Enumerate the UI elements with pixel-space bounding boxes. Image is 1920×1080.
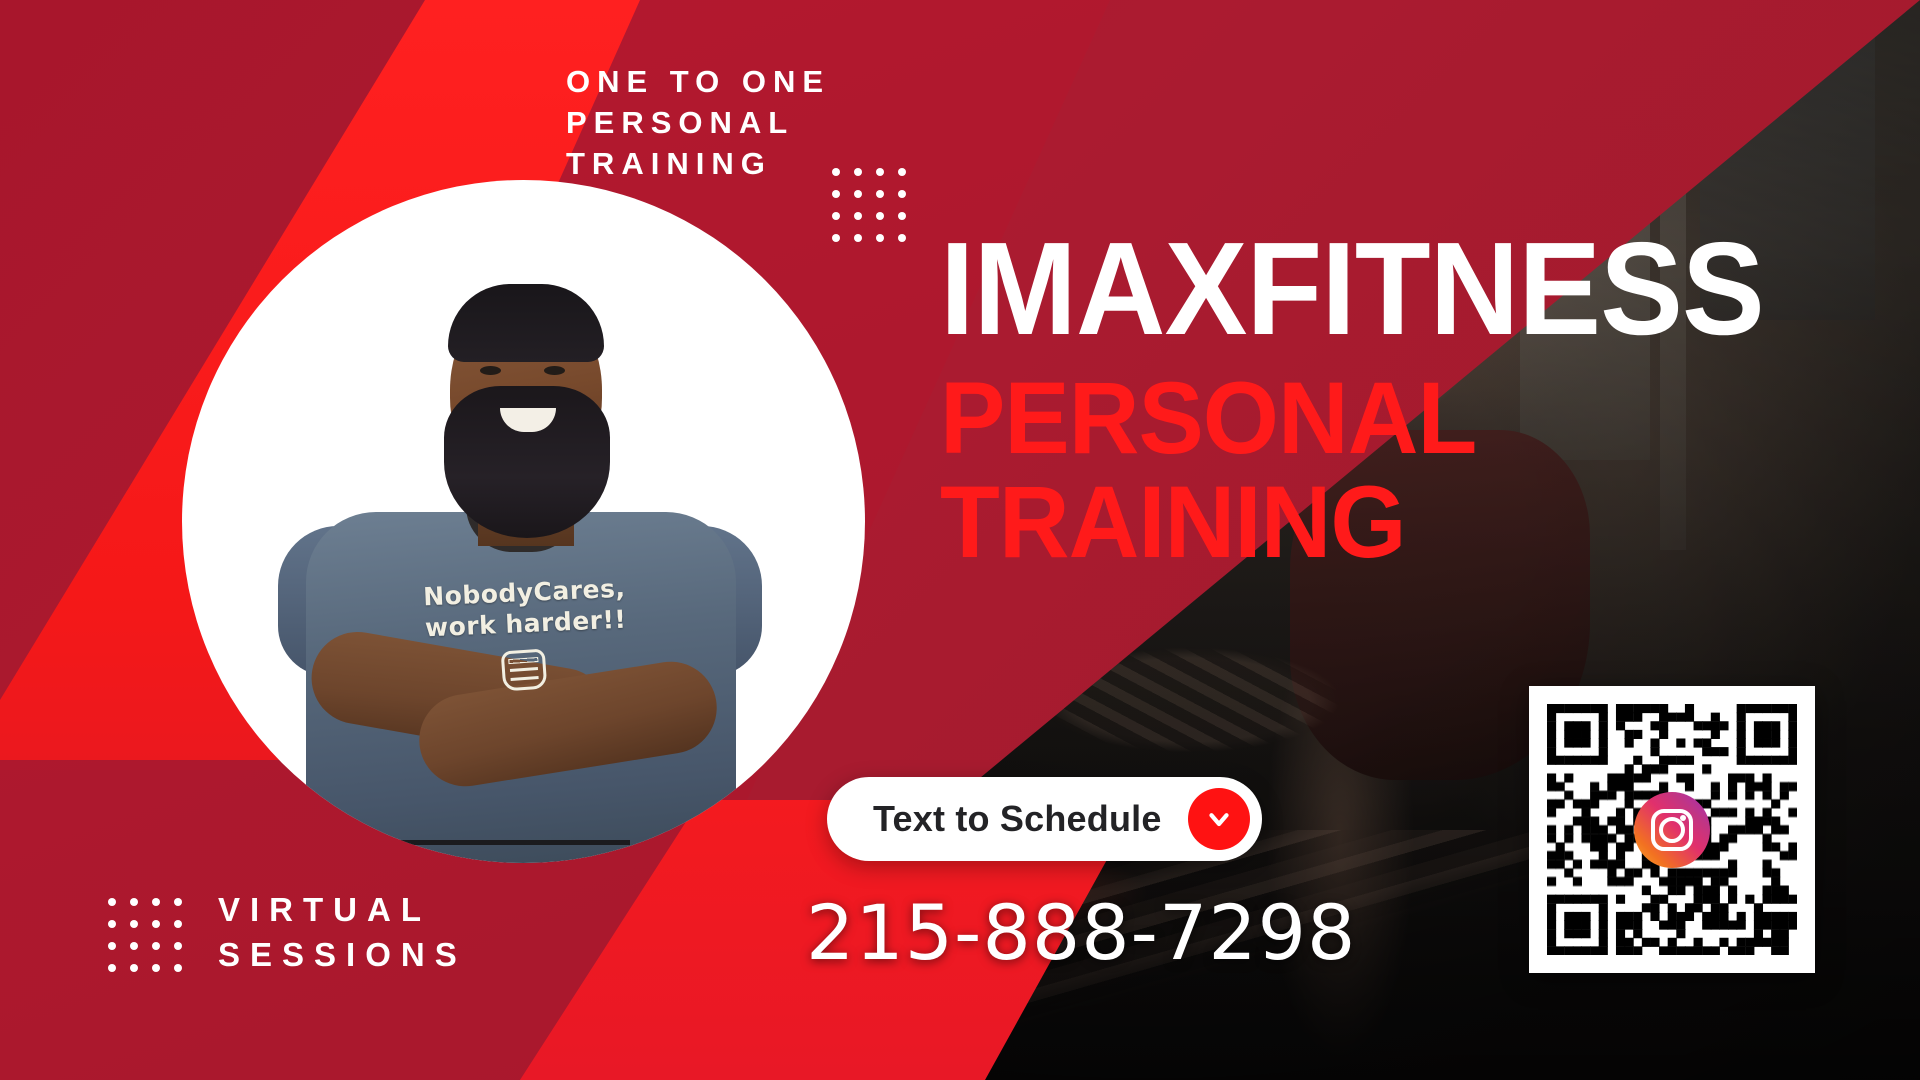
grid-dot bbox=[898, 190, 906, 198]
grid-dot bbox=[174, 920, 182, 928]
grid-dot bbox=[152, 942, 160, 950]
phone-number[interactable]: 215-888-7298 bbox=[806, 888, 1356, 977]
grid-dot bbox=[876, 234, 884, 242]
virtual-sessions-line-2: SESSIONS bbox=[218, 933, 467, 978]
portrait-baseline bbox=[350, 840, 630, 845]
grid-dot bbox=[854, 168, 862, 176]
subtitle-line-2: TRAINING bbox=[940, 471, 1781, 573]
grid-dot bbox=[174, 942, 182, 950]
grid-dot bbox=[152, 898, 160, 906]
grid-dot bbox=[832, 168, 840, 176]
grid-dot bbox=[898, 212, 906, 220]
grid-dot bbox=[174, 964, 182, 972]
chevron-down-icon[interactable] bbox=[1188, 788, 1250, 850]
kicker-text: ONE TO ONE PERSONAL TRAINING bbox=[566, 62, 830, 185]
grid-dot bbox=[152, 920, 160, 928]
virtual-sessions-line-1: VIRTUAL bbox=[218, 888, 467, 933]
trainer-hair bbox=[448, 284, 604, 362]
instagram-glyph bbox=[1651, 809, 1693, 851]
kicker-line-2: PERSONAL bbox=[566, 103, 830, 144]
grid-dot bbox=[898, 234, 906, 242]
grid-dot bbox=[876, 168, 884, 176]
fist-icon bbox=[501, 649, 548, 692]
fitness-advertisement-poster: ONE TO ONE PERSONAL TRAINING NobodyCares… bbox=[0, 0, 1920, 1080]
qr-code-card[interactable] bbox=[1529, 686, 1815, 973]
grid-dot bbox=[898, 168, 906, 176]
trainer-photo: NobodyCares, work harder!! bbox=[182, 180, 865, 863]
grid-dot bbox=[108, 898, 116, 906]
grid-dot bbox=[108, 920, 116, 928]
grid-dot bbox=[876, 212, 884, 220]
kicker-line-1: ONE TO ONE bbox=[566, 62, 830, 103]
grid-dot bbox=[152, 964, 160, 972]
trainer-portrait-circle: NobodyCares, work harder!! bbox=[182, 180, 865, 863]
grid-dot bbox=[876, 190, 884, 198]
brand-title: IMAXFITNESS bbox=[940, 228, 1764, 349]
grid-dot bbox=[130, 920, 138, 928]
text-to-schedule-button[interactable]: Text to Schedule bbox=[827, 777, 1262, 861]
headline-block: IMAXFITNESS PERSONAL TRAINING bbox=[940, 228, 1816, 573]
grid-dot bbox=[130, 898, 138, 906]
grid-dot bbox=[130, 964, 138, 972]
grid-dot bbox=[108, 964, 116, 972]
trainer-eye-right bbox=[544, 366, 565, 375]
trainer-eye-left bbox=[480, 366, 501, 375]
dot-grid-bottom bbox=[108, 898, 182, 972]
virtual-sessions-text: VIRTUAL SESSIONS bbox=[218, 888, 467, 977]
cta-label: Text to Schedule bbox=[873, 798, 1162, 840]
kicker-line-3: TRAINING bbox=[566, 144, 830, 185]
grid-dot bbox=[130, 942, 138, 950]
grid-dot bbox=[108, 942, 116, 950]
subtitle-line-1: PERSONAL bbox=[940, 367, 1781, 469]
qr-code[interactable] bbox=[1547, 704, 1797, 955]
instagram-icon[interactable] bbox=[1634, 792, 1710, 868]
grid-dot bbox=[174, 898, 182, 906]
